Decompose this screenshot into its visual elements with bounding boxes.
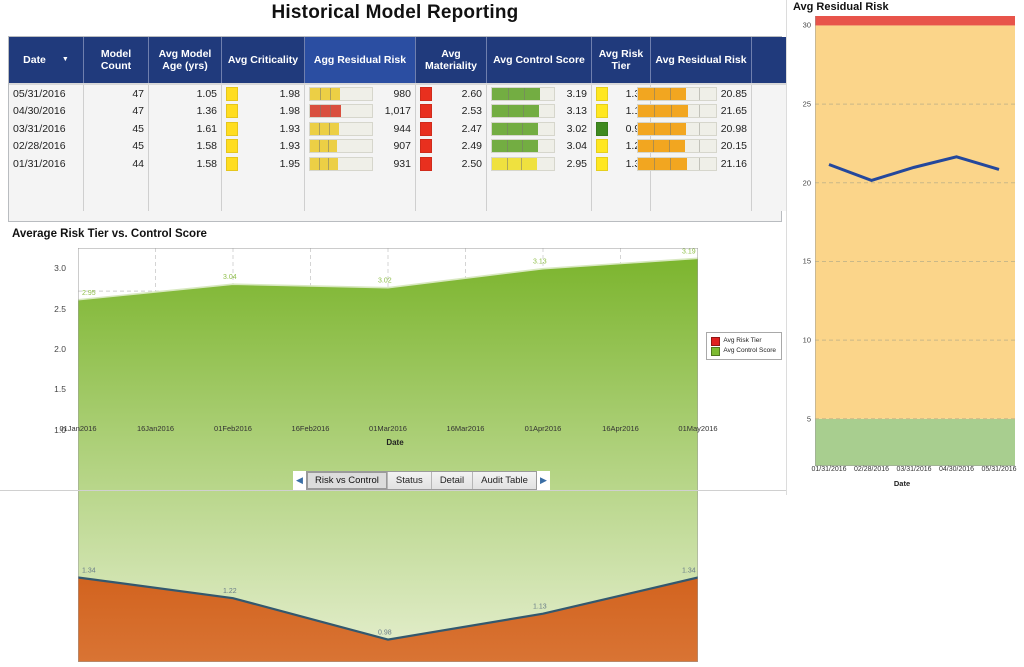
svg-text:1.13: 1.13 bbox=[533, 604, 547, 611]
cell-avg-criticality: 1.98 bbox=[242, 105, 300, 117]
cell-avg-control-score: 2.95 bbox=[559, 158, 587, 170]
data-bar-tick bbox=[669, 140, 670, 152]
cell-empty bbox=[149, 173, 222, 211]
cell-agg-residual-risk: 1,017 bbox=[377, 105, 411, 117]
column-header-avg_risk_tier[interactable]: Avg Risk Tier bbox=[592, 37, 651, 84]
legend-label: Avg Control Score bbox=[723, 346, 776, 356]
legend-swatch-icon bbox=[711, 337, 720, 346]
materiality-swatch-icon bbox=[420, 139, 432, 153]
cell-empty bbox=[416, 173, 487, 211]
cell-empty bbox=[651, 173, 752, 211]
data-bar-threshold bbox=[699, 158, 700, 170]
data-bar-fill bbox=[492, 105, 539, 117]
materiality-swatch-icon bbox=[420, 104, 432, 118]
avg-residual-risk-bar bbox=[637, 122, 717, 136]
data-bar-tick bbox=[508, 88, 509, 100]
cell-agg-residual-risk: 907 bbox=[377, 140, 411, 152]
data-bar-fill bbox=[492, 140, 538, 152]
table-row[interactable]: 05/31/2016471.051.989802.603.191.3420.85 bbox=[9, 84, 850, 103]
y-axis-labels: 1.01.52.02.53.0 bbox=[6, 248, 72, 662]
column-header-avg_control_score[interactable]: Avg Control Score bbox=[487, 37, 592, 84]
data-bar-fill bbox=[492, 123, 538, 135]
data-bar-tick bbox=[670, 123, 671, 135]
residual-risk-svg bbox=[815, 16, 1015, 466]
data-bar-tick bbox=[328, 140, 329, 152]
data-bar-tick bbox=[654, 123, 655, 135]
data-bar-fill bbox=[638, 105, 689, 117]
tab-detail[interactable]: Detail bbox=[432, 472, 473, 489]
tab-audit-table[interactable]: Audit Table bbox=[473, 472, 536, 489]
data-bar-tick bbox=[654, 88, 655, 100]
data-bar-tick bbox=[507, 123, 508, 135]
bottom-divider bbox=[0, 490, 786, 491]
area-chart-svg: 2.953.043.023.133.191.341.220.981.131.34 bbox=[78, 248, 698, 662]
cell-avg-materiality: 2.60 bbox=[436, 88, 482, 100]
risk-tier-swatch-icon bbox=[596, 139, 608, 153]
data-bar-fill bbox=[638, 123, 686, 135]
table-row[interactable]: 03/31/2016451.611.939442.473.020.9820.98 bbox=[9, 120, 850, 138]
historical-model-table: Date▼Model CountAvg Model Age (yrs)Avg C… bbox=[8, 36, 782, 222]
y-tick-label: 25 bbox=[803, 100, 811, 109]
svg-text:3.13: 3.13 bbox=[533, 259, 547, 266]
control-score-bar bbox=[491, 122, 555, 136]
data-bar-tick bbox=[319, 158, 320, 170]
data-bar-tick bbox=[330, 105, 331, 117]
y-tick-label: 10 bbox=[803, 336, 811, 345]
x-tick-label: 16Apr2016 bbox=[602, 424, 639, 433]
cell-avg-criticality: 1.95 bbox=[242, 158, 300, 170]
table-row[interactable]: 01/31/2016441.581.959312.502.951.3421.16 bbox=[9, 155, 850, 173]
x-tick-label: 16Mar2016 bbox=[447, 424, 485, 433]
column-header-label: Avg Risk Tier bbox=[599, 48, 644, 72]
cell-avg-residual-risk: 21.65 bbox=[721, 105, 747, 117]
y-tick-label: 20 bbox=[803, 178, 811, 187]
data-bar-tick bbox=[319, 123, 320, 135]
avg-residual-risk-bar bbox=[637, 157, 717, 171]
cell-date: 01/31/2016 bbox=[9, 155, 84, 173]
legend-item[interactable]: Avg Risk Tier bbox=[711, 336, 776, 346]
cell-avg-model-age: 1.36 bbox=[149, 103, 222, 121]
control-score-bar bbox=[491, 87, 555, 101]
cell-avg-criticality: 1.98 bbox=[242, 88, 300, 100]
risk-tier-swatch-icon bbox=[596, 157, 608, 171]
column-header-label: Avg Materiality bbox=[425, 48, 477, 72]
data-bar-fill bbox=[310, 105, 341, 117]
x-tick-label: 01Feb2016 bbox=[214, 424, 252, 433]
materiality-swatch-icon bbox=[420, 87, 432, 101]
plot-area: 2.953.043.023.133.191.341.220.981.131.34 bbox=[78, 248, 698, 662]
data-bar-fill bbox=[310, 88, 340, 100]
cell-avg-materiality: 2.50 bbox=[436, 158, 482, 170]
cell-model-count: 45 bbox=[84, 120, 149, 138]
risk-tier-swatch-icon bbox=[596, 87, 608, 101]
cell-date: 03/31/2016 bbox=[9, 120, 84, 138]
data-bar-tick bbox=[521, 158, 522, 170]
column-header-avg_model_age[interactable]: Avg Model Age (yrs) bbox=[149, 37, 222, 84]
cell-avg-materiality: 2.49 bbox=[436, 140, 482, 152]
cell-empty bbox=[305, 173, 416, 211]
cell-empty bbox=[9, 173, 84, 211]
data-bar-tick bbox=[508, 105, 509, 117]
column-header-agg_residual_risk[interactable]: Agg Residual Risk bbox=[305, 37, 416, 84]
y-tick-label: 1.5 bbox=[54, 384, 66, 394]
x-tick-label: 01Jan2016 bbox=[59, 424, 96, 433]
cell-avg-control-score: 3.04 bbox=[559, 140, 587, 152]
y-tick-label: 3.0 bbox=[54, 263, 66, 273]
tabs-next-arrow[interactable]: ▶ bbox=[537, 471, 550, 490]
data-bar-fill bbox=[492, 158, 537, 170]
chart-legend: Avg Risk TierAvg Control Score bbox=[706, 332, 782, 360]
data-bar-threshold bbox=[699, 140, 700, 152]
cell-model-count: 47 bbox=[84, 103, 149, 121]
cell-model-count: 45 bbox=[84, 138, 149, 156]
x-axis-title: Date bbox=[6, 438, 784, 447]
criticality-swatch-icon bbox=[226, 104, 238, 118]
svg-text:1.34: 1.34 bbox=[682, 567, 696, 574]
tab-list[interactable]: Risk vs ControlStatusDetailAudit Table bbox=[306, 471, 537, 490]
column-header-date[interactable]: Date▼ bbox=[9, 37, 84, 84]
avg-residual-risk-bar bbox=[637, 139, 717, 153]
tab-status[interactable]: Status bbox=[388, 472, 432, 489]
control-score-bar bbox=[491, 139, 555, 153]
x-axis-labels: 01/31/201602/28/201603/31/201604/30/2016… bbox=[787, 466, 1024, 478]
agg-residual-risk-bar bbox=[309, 87, 373, 101]
cell-avg-materiality: 2.53 bbox=[436, 105, 482, 117]
cell-avg-model-age: 1.61 bbox=[149, 120, 222, 138]
cell-avg-materiality: 2.47 bbox=[436, 123, 482, 135]
data-bar-tick bbox=[653, 140, 654, 152]
column-header-label: Avg Criticality bbox=[228, 54, 298, 66]
y-tick-label: 2.0 bbox=[54, 344, 66, 354]
criticality-swatch-icon bbox=[226, 87, 238, 101]
cell-avg-control-score: 3.19 bbox=[559, 88, 587, 100]
data-bar-tick bbox=[671, 105, 672, 117]
cell-model-count: 47 bbox=[84, 84, 149, 103]
column-header-label: Model Count bbox=[101, 48, 131, 72]
sort-caret-icon[interactable]: ▼ bbox=[62, 56, 69, 64]
table-header-row: Date▼Model CountAvg Model Age (yrs)Avg C… bbox=[9, 37, 850, 84]
column-header-label: Date bbox=[23, 54, 46, 66]
x-tick-label: 01Apr2016 bbox=[525, 424, 562, 433]
risk-vs-control-chart: Average Risk Tier vs. Control Score 1.01… bbox=[6, 228, 784, 468]
x-tick-label: 05/31/2016 bbox=[981, 466, 1016, 473]
data-bar-tick bbox=[330, 88, 331, 100]
criticality-swatch-icon bbox=[226, 157, 238, 171]
svg-text:3.02: 3.02 bbox=[378, 278, 392, 285]
column-header-label: Avg Control Score bbox=[493, 54, 585, 66]
report-page: Historical Model Reporting Date▼Model Co… bbox=[0, 0, 1024, 495]
cell-avg-residual-risk: 20.15 bbox=[721, 140, 747, 152]
cell-avg-model-age: 1.05 bbox=[149, 84, 222, 103]
cell-agg-residual-risk: 944 bbox=[377, 123, 411, 135]
materiality-swatch-icon bbox=[420, 122, 432, 136]
table-filler-row bbox=[9, 173, 850, 211]
column-header-avg_criticality[interactable]: Avg Criticality bbox=[222, 37, 305, 84]
data-bar-threshold bbox=[699, 123, 700, 135]
y-axis-labels: 51015202530 bbox=[787, 0, 813, 495]
cell-date: 04/30/2016 bbox=[9, 103, 84, 121]
x-tick-label: 04/30/2016 bbox=[939, 466, 974, 473]
data-bar-fill bbox=[638, 158, 687, 170]
data-bar-fill bbox=[492, 88, 540, 100]
cell-avg-residual-risk: 21.16 bbox=[721, 158, 747, 170]
tab-risk-vs-control[interactable]: Risk vs Control bbox=[307, 472, 388, 489]
y-tick-label: 15 bbox=[803, 257, 811, 266]
criticality-swatch-icon bbox=[226, 139, 238, 153]
left-region: Historical Model Reporting Date▼Model Co… bbox=[0, 0, 790, 495]
cell-date: 05/31/2016 bbox=[9, 84, 84, 103]
data-bar-tick bbox=[329, 123, 330, 135]
agg-residual-risk-bar bbox=[309, 157, 373, 171]
x-tick-label: 01/31/2016 bbox=[811, 466, 846, 473]
data-bar-tick bbox=[654, 105, 655, 117]
x-axis-labels: 01Jan201616Jan201601Feb201616Feb201601Ma… bbox=[78, 424, 698, 436]
avg-residual-risk-bar bbox=[637, 87, 717, 101]
data-bar-fill bbox=[310, 123, 339, 135]
column-header-label: Agg Residual Risk bbox=[314, 54, 406, 66]
data-bar-tick bbox=[507, 140, 508, 152]
control-score-bar bbox=[491, 104, 555, 118]
y-tick-label: 30 bbox=[803, 21, 811, 30]
cell-empty bbox=[84, 173, 149, 211]
column-header-label: Avg Residual Risk bbox=[655, 54, 746, 66]
cell-avg-control-score: 3.02 bbox=[559, 123, 587, 135]
data-bar-threshold bbox=[699, 105, 700, 117]
agg-residual-risk-bar bbox=[309, 104, 373, 118]
table-row[interactable]: 04/30/2016471.361.981,0172.533.131.1321.… bbox=[9, 103, 850, 121]
tabs-prev-arrow[interactable]: ◀ bbox=[293, 471, 306, 490]
data-bar-tick bbox=[522, 123, 523, 135]
svg-text:1.34: 1.34 bbox=[82, 567, 96, 574]
risk-tier-swatch-icon bbox=[596, 104, 608, 118]
cell-avg-criticality: 1.93 bbox=[242, 140, 300, 152]
column-header-avg_materiality[interactable]: Avg Materiality bbox=[416, 37, 487, 84]
cell-agg-residual-risk: 980 bbox=[377, 88, 411, 100]
cell-avg-control-score: 3.13 bbox=[559, 105, 587, 117]
legend-swatch-icon bbox=[711, 347, 720, 356]
cell-avg-residual-risk: 20.85 bbox=[721, 88, 747, 100]
data-bar-tick bbox=[654, 158, 655, 170]
materiality-swatch-icon bbox=[420, 157, 432, 171]
cell-empty bbox=[222, 173, 305, 211]
svg-text:0.98: 0.98 bbox=[378, 630, 392, 637]
column-header-label: Avg Model Age (yrs) bbox=[159, 48, 212, 72]
chart-title: Average Risk Tier vs. Control Score bbox=[12, 228, 207, 240]
x-tick-label: 03/31/2016 bbox=[896, 466, 931, 473]
cell-avg-model-age: 1.58 bbox=[149, 138, 222, 156]
x-tick-label: 16Jan2016 bbox=[137, 424, 174, 433]
data-bar-tick bbox=[328, 158, 329, 170]
svg-text:3.04: 3.04 bbox=[223, 274, 237, 281]
data-bar-tick bbox=[670, 158, 671, 170]
x-tick-label: 01Mar2016 bbox=[369, 424, 407, 433]
legend-item[interactable]: Avg Control Score bbox=[711, 346, 776, 356]
control-score-bar bbox=[491, 157, 555, 171]
data-bar-tick bbox=[524, 88, 525, 100]
criticality-swatch-icon bbox=[226, 122, 238, 136]
legend-label: Avg Risk Tier bbox=[723, 336, 761, 346]
cell-model-count: 44 bbox=[84, 155, 149, 173]
svg-text:2.95: 2.95 bbox=[82, 290, 96, 297]
x-tick-label: 16Feb2016 bbox=[292, 424, 330, 433]
y-tick-label: 5 bbox=[807, 414, 811, 423]
data-bar-tick bbox=[320, 105, 321, 117]
data-bar-tick bbox=[319, 140, 320, 152]
avg-residual-risk-chart: Avg Residual Risk 51015202530 01/31/2016… bbox=[786, 0, 1024, 495]
column-header-model_count[interactable]: Model Count bbox=[84, 37, 149, 84]
data-bar-fill bbox=[638, 88, 686, 100]
data-bar-fill bbox=[310, 140, 337, 152]
tab-strip[interactable]: ◀ Risk vs ControlStatusDetailAudit Table… bbox=[293, 471, 550, 490]
svg-text:3.19: 3.19 bbox=[682, 248, 696, 255]
avg-residual-risk-bar bbox=[637, 104, 717, 118]
risk-tier-swatch-icon bbox=[596, 122, 608, 136]
svg-text:1.22: 1.22 bbox=[223, 588, 237, 595]
data-bar-tick bbox=[507, 158, 508, 170]
data-bar-tick bbox=[523, 105, 524, 117]
cell-empty bbox=[592, 173, 651, 211]
y-tick-label: 2.5 bbox=[54, 304, 66, 314]
cell-date: 02/28/2016 bbox=[9, 138, 84, 156]
column-header-avg_residual_risk[interactable]: Avg Residual Risk bbox=[651, 37, 752, 84]
x-tick-label: 01May2016 bbox=[678, 424, 717, 433]
cell-empty bbox=[487, 173, 592, 211]
data-bar-fill bbox=[310, 158, 338, 170]
agg-residual-risk-bar bbox=[309, 139, 373, 153]
page-title: Historical Model Reporting bbox=[0, 2, 790, 24]
table-row[interactable]: 02/28/2016451.581.939072.493.041.2220.15 bbox=[9, 138, 850, 156]
x-axis-title: Date bbox=[787, 479, 1017, 488]
data-bar-tick bbox=[522, 140, 523, 152]
data-bar-tick bbox=[320, 88, 321, 100]
cell-agg-residual-risk: 931 bbox=[377, 158, 411, 170]
cell-avg-residual-risk: 20.98 bbox=[721, 123, 747, 135]
data-bar-tick bbox=[670, 88, 671, 100]
data-bar-threshold bbox=[699, 88, 700, 100]
cell-avg-criticality: 1.93 bbox=[242, 123, 300, 135]
agg-residual-risk-bar bbox=[309, 122, 373, 136]
x-tick-label: 02/28/2016 bbox=[854, 466, 889, 473]
data-bar-fill bbox=[638, 140, 685, 152]
cell-avg-model-age: 1.58 bbox=[149, 155, 222, 173]
